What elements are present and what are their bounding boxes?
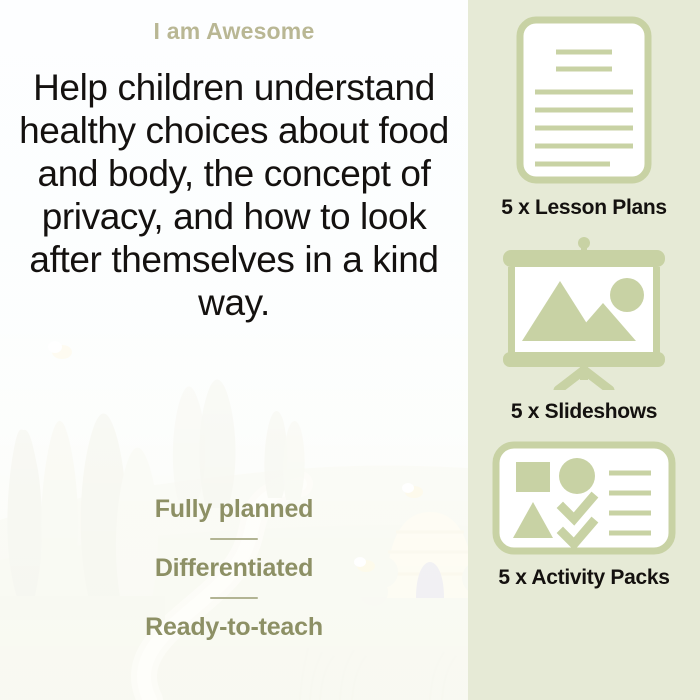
right-panel: 5 x Lesson Plans (468, 0, 700, 700)
feature-list: Fully planned Differentiated Ready-to-te… (145, 495, 323, 642)
page-title: I am Awesome (154, 18, 315, 45)
presentation-screen-icon (494, 234, 674, 395)
feature-item: Differentiated (155, 554, 313, 583)
feature-item: Ready-to-teach (145, 613, 323, 642)
feature-divider (210, 538, 258, 540)
feature-item: Fully planned (155, 495, 314, 524)
product-label: 5 x Lesson Plans (501, 196, 667, 220)
body-copy: Help children understand healthy choices… (19, 67, 449, 324)
product-slideshows: 5 x Slideshows (468, 234, 700, 424)
left-content: I am Awesome Help children understand he… (0, 0, 468, 700)
product-label: 5 x Activity Packs (498, 566, 669, 590)
promo-graphic: I am Awesome Help children understand he… (0, 0, 700, 700)
document-icon (514, 14, 654, 191)
product-label: 5 x Slideshows (511, 400, 657, 424)
product-lesson-plans: 5 x Lesson Plans (468, 14, 700, 220)
left-panel: I am Awesome Help children understand he… (0, 0, 468, 700)
activity-card-icon (491, 440, 677, 561)
product-activity-packs: 5 x Activity Packs (468, 440, 700, 590)
feature-divider (210, 597, 258, 599)
